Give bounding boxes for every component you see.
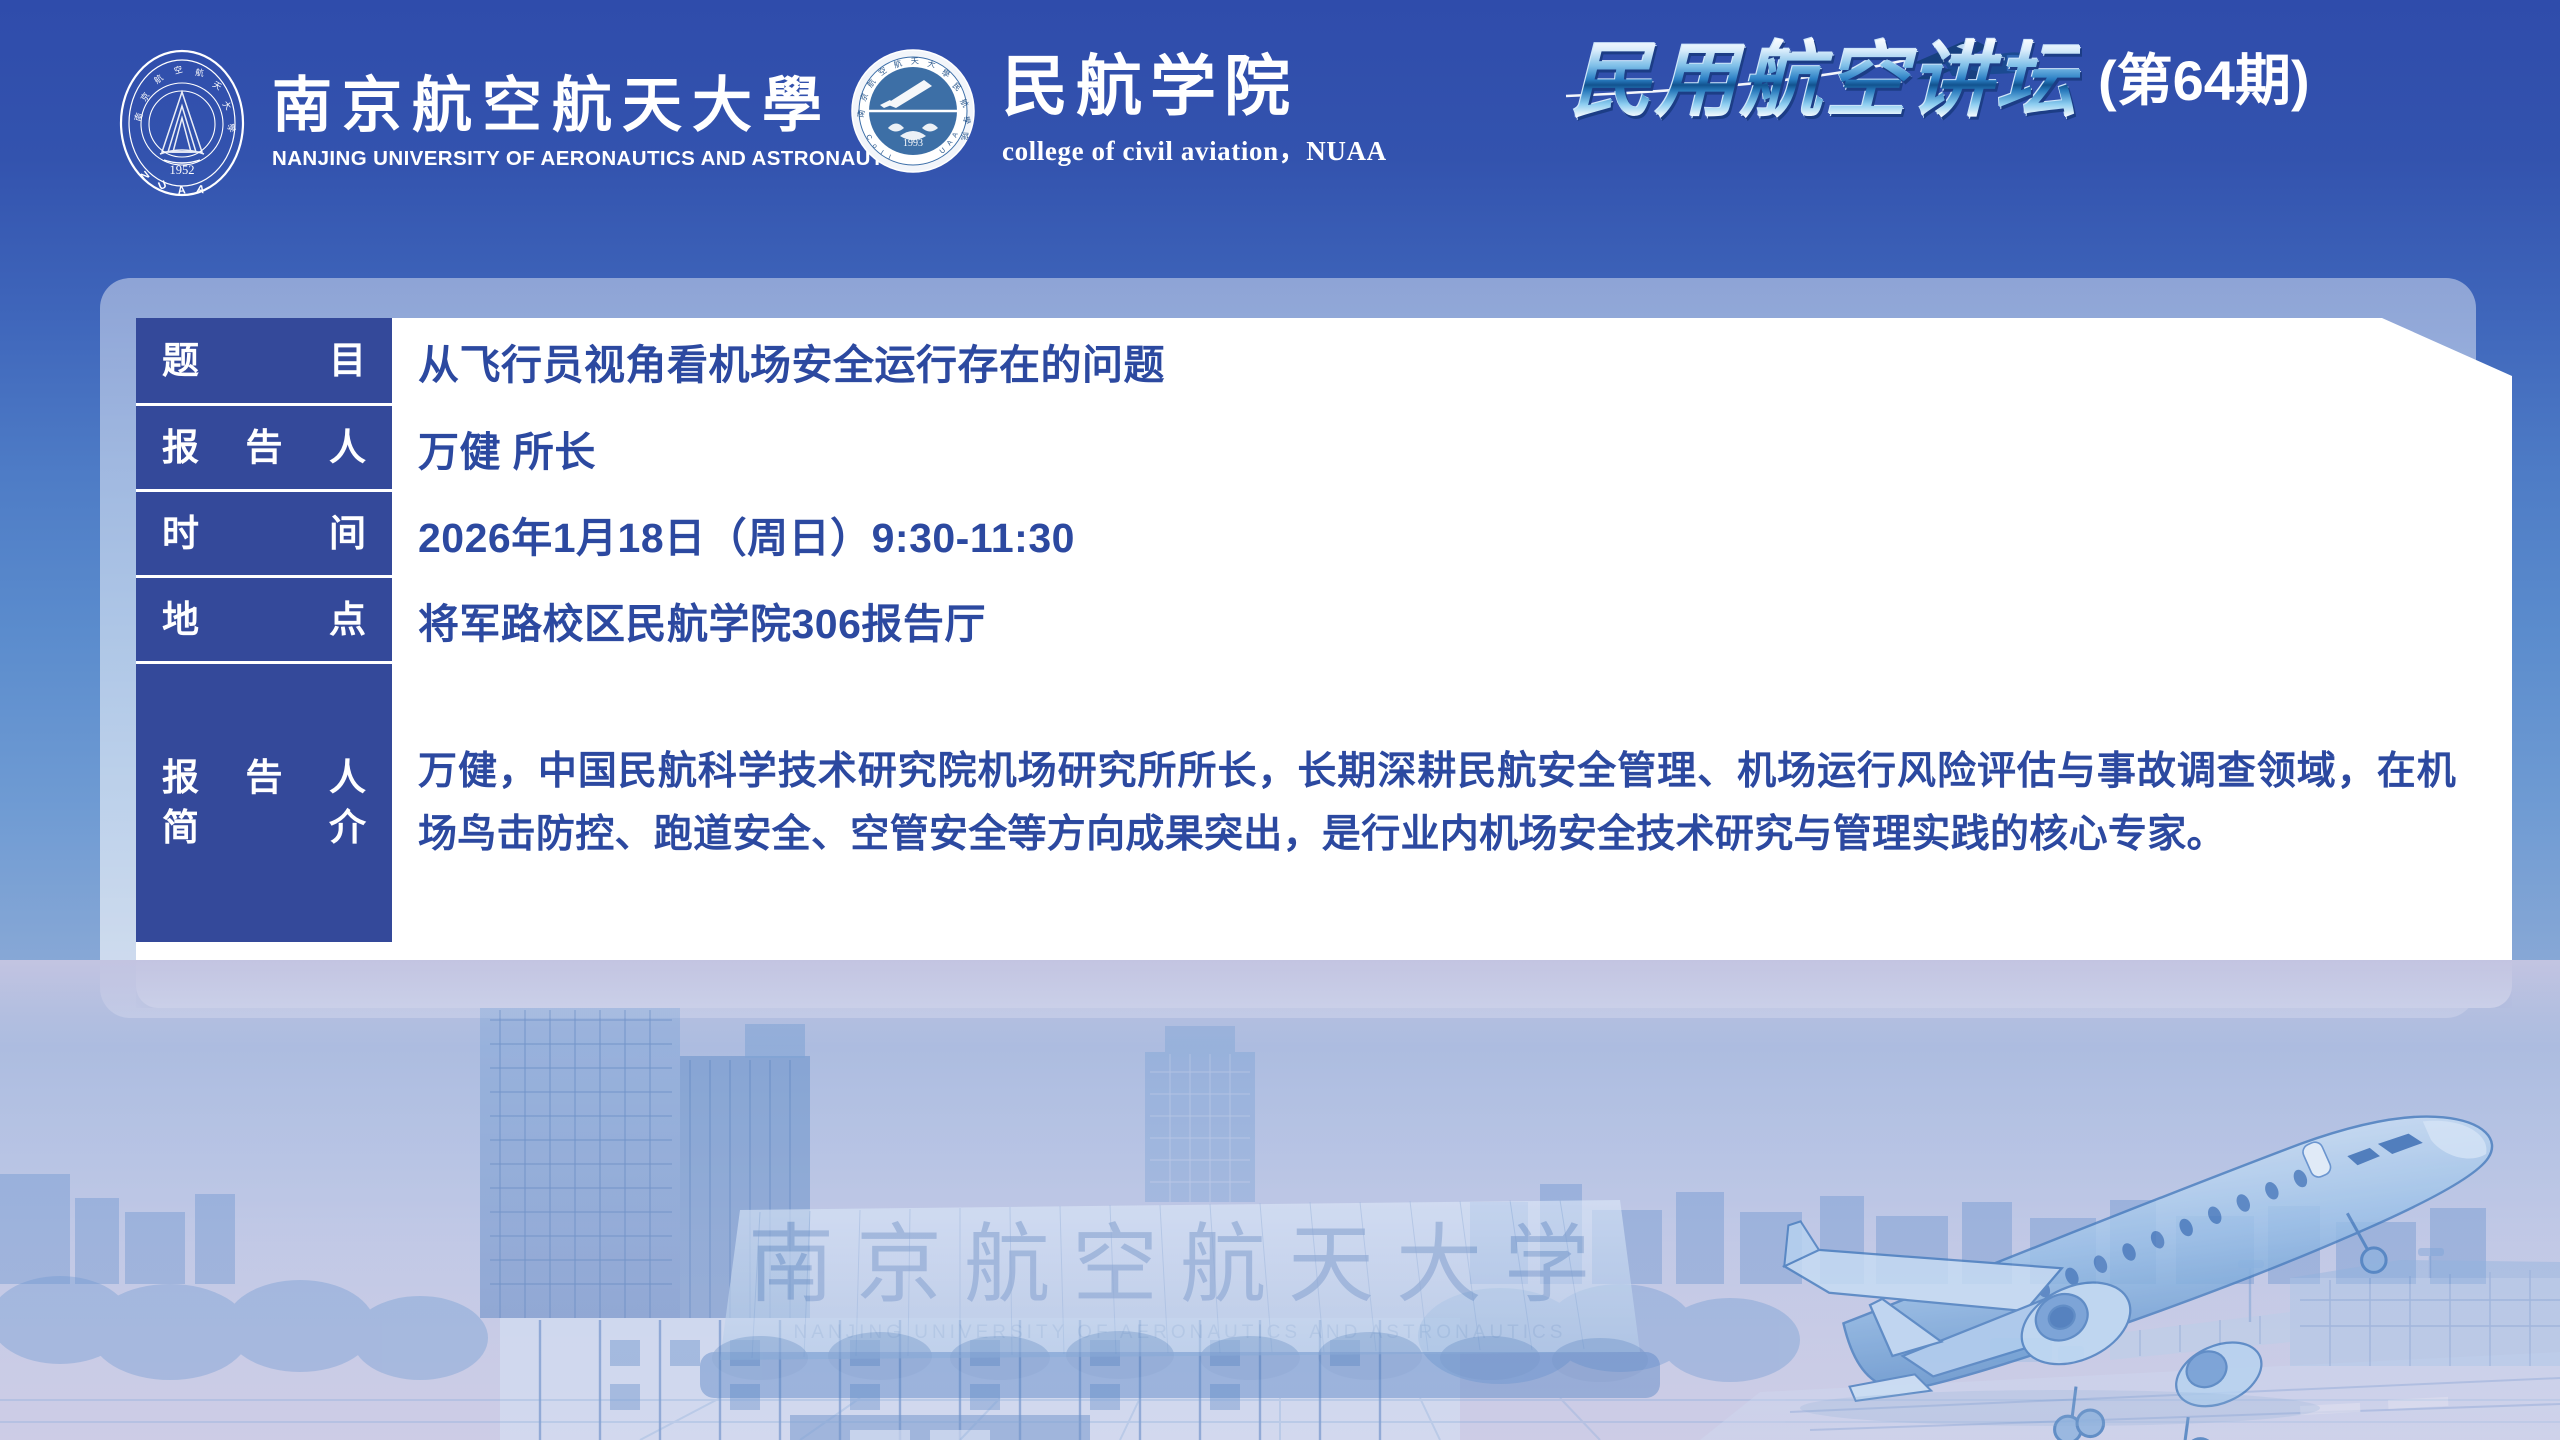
svg-text:學: 學 [225, 122, 237, 134]
svg-text:南: 南 [855, 109, 866, 119]
label-cell-time: 时 间 [136, 492, 392, 575]
forum-title-block: 民用航空讲坛 (第64期) [1570, 36, 2310, 133]
label-cell-speaker: 报 告 人 [136, 406, 392, 489]
value-cell-title: 从飞行员视角看机场安全运行存在的问题 [392, 318, 2512, 403]
label-char: 点 [329, 595, 366, 645]
value-cell-bio: 万健，中国民航科学技术研究院机场研究所所长，长期深耕民航安全管理、机场运行风险评… [392, 664, 2512, 942]
label-char: 告 [246, 753, 283, 803]
label-char: 间 [329, 509, 366, 559]
label-char: 简 [162, 803, 199, 853]
svg-text:空: 空 [173, 64, 184, 76]
label-char: 时 [162, 509, 199, 559]
speaker-bio-text: 万健，中国民航科学技术研究院机场研究所所长，长期深耕民航安全管理、机场运行风险评… [418, 740, 2456, 866]
label-char: 人 [329, 753, 366, 803]
nuaa-seal-year: 1952 [170, 163, 195, 177]
value-cell-time: 2026年1月18日（周日）9:30-11:30 [392, 492, 2512, 575]
central-tower [1145, 1026, 1255, 1202]
label-char: 人 [329, 423, 366, 473]
table-row-speaker: 报 告 人 万健 所长 [136, 406, 2512, 489]
cca-name-group: 民航学院 college of civil aviation，NUAA [1002, 54, 1387, 168]
label-cell-place: 地 点 [136, 578, 392, 661]
svg-text:N: N [138, 169, 152, 183]
info-table: 题 目 从飞行员视角看机场安全运行存在的问题 报 告 人 万健 所长 [136, 318, 2512, 942]
label-cell-bio: 报 告 人 简 告 介 [136, 664, 392, 942]
cca-cn-name: 民航学院 [1002, 54, 1387, 121]
cca-seal-icon: 1993 南 京 航 空 航 天 大 學 民 航 學 院 [850, 48, 976, 174]
aircraft-shadow [1800, 1390, 2320, 1426]
label-char: 报 [162, 753, 199, 803]
value-cell-place: 将军路校区民航学院306报告厅 [392, 578, 2512, 661]
label-char: 题 [162, 336, 199, 386]
nuaa-name-group: 南京航空航天大學 NANJING UNIVERSITY OF AERONAUTI… [272, 75, 919, 170]
cca-en-name: college of civil aviation，NUAA [1002, 129, 1387, 168]
svg-text:航: 航 [152, 72, 165, 85]
poster-header: 1952 N U A A 南 京 航 空 航 天 大 [0, 0, 2560, 250]
table-row-bio: 报 告 人 简 告 介 万健，中国民航科学技术研究院机场研究所所长，长期深耕民航… [136, 664, 2512, 942]
svg-text:院: 院 [960, 132, 970, 140]
svg-text:A: A [195, 183, 205, 196]
info-card: 题 目 从飞行员视角看机场安全运行存在的问题 报 告 人 万健 所长 [136, 318, 2512, 1008]
table-row-place: 地 点 将军路校区民航学院306报告厅 [136, 578, 2512, 661]
nuaa-logo-block: 1952 N U A A 南 京 航 空 航 天 大 [118, 48, 919, 198]
label-cell-title: 题 目 [136, 318, 392, 403]
table-row-title: 题 目 从飞行员视角看机场安全运行存在的问题 [136, 318, 2512, 403]
svg-text:天: 天 [911, 56, 920, 66]
label-char: 地 [162, 595, 199, 645]
campus-wall-cn-text: 南京航空航天大学 [748, 1217, 1612, 1313]
label-char: 报 [162, 423, 199, 473]
cca-seal-year: 1993 [903, 138, 923, 149]
table-row-time: 时 间 2026年1月18日（周日）9:30-11:30 [136, 492, 2512, 575]
label-char: 介 [329, 803, 366, 853]
svg-text:A: A [177, 184, 186, 197]
forum-issue-number: (第64期) [2098, 36, 2310, 133]
nuaa-cn-name: 南京航空航天大學 [272, 75, 919, 137]
label-char: 目 [329, 336, 366, 386]
cca-logo-block: 1993 南 京 航 空 航 天 大 學 民 航 學 院 [850, 48, 1387, 174]
nuaa-en-name: NANJING UNIVERSITY OF AERONAUTICS AND AS… [272, 147, 919, 171]
value-cell-speaker: 万健 所长 [392, 406, 2512, 489]
nuaa-seal-icon: 1952 N U A A 南 京 航 空 航 天 大 [118, 48, 246, 198]
campus-illustration: 南京航空航天大学 NANJING UNIVERSITY OF AERONAUTI… [0, 960, 2560, 1440]
label-char: 告 [246, 423, 283, 473]
svg-text:京: 京 [138, 90, 151, 103]
svg-text:航: 航 [195, 67, 205, 78]
poster-canvas: 1952 N U A A 南 京 航 空 航 天 大 [0, 0, 2560, 1440]
forum-title-text: 民用航空讲坛 [1570, 37, 2080, 133]
